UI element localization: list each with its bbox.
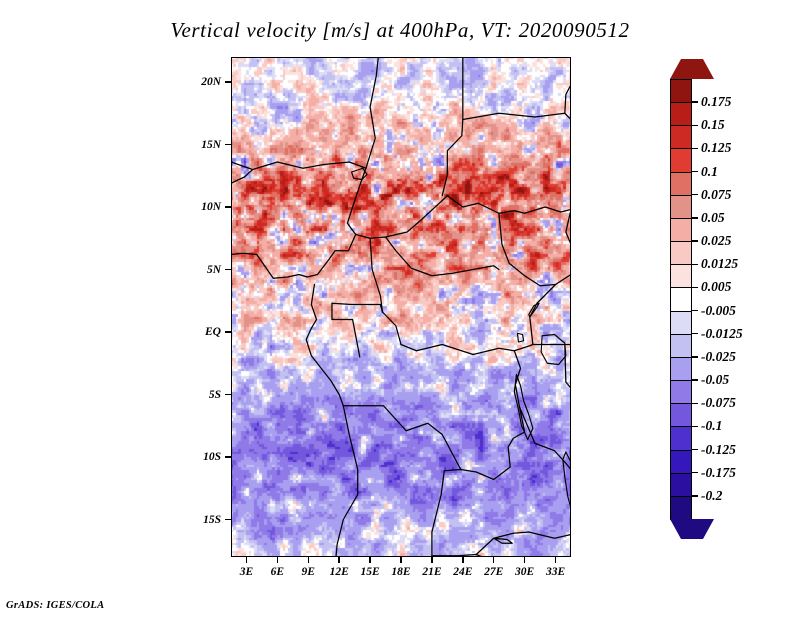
colorbar-label: -0.175	[701, 465, 736, 481]
x-axis-tick	[555, 557, 556, 563]
x-axis-tick	[431, 557, 432, 563]
colorbar-band	[670, 264, 692, 288]
x-axis-label: 6E	[271, 566, 284, 578]
colorbar-band	[670, 79, 692, 103]
y-axis-tick	[225, 81, 231, 82]
x-axis-label: 12E	[330, 566, 349, 578]
y-axis-tick	[225, 519, 231, 520]
colorbar-label: -0.0125	[701, 326, 743, 342]
colorbar-label: -0.125	[701, 442, 736, 458]
colorbar-tick	[692, 240, 698, 241]
colorbar-band	[670, 357, 692, 381]
colorbar-band	[670, 450, 692, 474]
colorbar-band	[670, 241, 692, 265]
colorbar-label: -0.1	[701, 418, 722, 434]
colorbar-band	[670, 195, 692, 219]
y-axis-label: 15S	[187, 514, 221, 526]
colorbar-tick	[692, 148, 698, 149]
colorbar-label: -0.05	[701, 372, 729, 388]
colorbar-tick	[692, 171, 698, 172]
x-axis-label: 15E	[360, 566, 379, 578]
x-axis-label: 30E	[515, 566, 534, 578]
x-axis-label: 21E	[422, 566, 441, 578]
x-axis-tick	[277, 557, 278, 563]
x-axis-tick	[493, 557, 494, 563]
y-axis-tick	[225, 269, 231, 270]
colorbar-band	[670, 287, 692, 311]
x-axis-label: 9E	[302, 566, 315, 578]
x-axis-tick	[462, 557, 463, 563]
y-axis-label: 20N	[187, 76, 221, 88]
colorbar-band	[670, 218, 692, 242]
colorbar-label: 0.175	[701, 94, 731, 110]
country-borders-overlay	[231, 57, 571, 557]
colorbar-label: 0.1	[701, 164, 718, 180]
colorbar-tick	[692, 495, 698, 496]
colorbar-band	[670, 496, 692, 520]
x-axis-label: 18E	[391, 566, 410, 578]
colorbar-band	[670, 426, 692, 450]
y-axis-label: EQ	[187, 326, 221, 338]
page-title: Vertical velocity [m/s] at 400hPa, VT: 2…	[0, 18, 800, 43]
colorbar-label: -0.025	[701, 349, 736, 365]
colorbar[interactable]: 0.1750.150.1250.10.0750.050.0250.01250.0…	[670, 57, 800, 562]
colorbar-tick	[692, 125, 698, 126]
x-axis-label: 33E	[546, 566, 565, 578]
y-axis-label: 5S	[187, 389, 221, 401]
colorbar-tick	[692, 356, 698, 357]
colorbar-band	[670, 380, 692, 404]
y-axis-tick	[225, 456, 231, 457]
colorbar-label: 0.15	[701, 117, 725, 133]
x-axis-tick	[524, 557, 525, 563]
colorbar-label: 0.025	[701, 233, 731, 249]
colorbar-tick	[692, 403, 698, 404]
x-axis-label: 24E	[453, 566, 472, 578]
colorbar-label: 0.05	[701, 210, 725, 226]
colorbar-band	[670, 125, 692, 149]
colorbar-tick	[692, 264, 698, 265]
colorbar-tick	[692, 101, 698, 102]
colorbar-label: 0.005	[701, 279, 731, 295]
x-axis-tick	[369, 557, 370, 563]
colorbar-label: 0.0125	[701, 256, 738, 272]
colorbar-label: 0.075	[701, 187, 731, 203]
colorbar-band	[670, 403, 692, 427]
y-axis-label: 10N	[187, 201, 221, 213]
colorbar-tick	[692, 217, 698, 218]
colorbar-label: -0.075	[701, 395, 736, 411]
colorbar-band	[670, 473, 692, 497]
colorbar-tick	[692, 426, 698, 427]
x-axis-tick	[338, 557, 339, 563]
y-axis-label: 5N	[187, 264, 221, 276]
y-axis-tick	[225, 331, 231, 332]
colorbar-arrow-bottom-icon	[670, 519, 714, 539]
colorbar-band	[670, 102, 692, 126]
y-axis-label: 15N	[187, 139, 221, 151]
colorbar-band	[670, 172, 692, 196]
x-axis-tick	[400, 557, 401, 563]
colorbar-band	[670, 334, 692, 358]
colorbar-tick	[692, 472, 698, 473]
colorbar-tick	[692, 333, 698, 334]
colorbar-tick	[692, 287, 698, 288]
colorbar-arrow-top-icon	[670, 59, 714, 79]
colorbar-tick	[692, 379, 698, 380]
colorbar-label: -0.2	[701, 488, 722, 504]
map-plot-area[interactable]	[231, 57, 571, 557]
colorbar-tick	[692, 449, 698, 450]
x-axis-tick	[246, 557, 247, 563]
colorbar-label: -0.005	[701, 303, 736, 319]
colorbar-label: 0.125	[701, 140, 731, 156]
y-axis-tick	[225, 394, 231, 395]
colorbar-band	[670, 148, 692, 172]
y-axis-tick	[225, 144, 231, 145]
colorbar-tick	[692, 310, 698, 311]
footer-attribution: GrADS: IGES/COLA	[6, 600, 104, 611]
x-axis-tick	[308, 557, 309, 563]
y-axis-label: 10S	[187, 451, 221, 463]
colorbar-tick	[692, 194, 698, 195]
x-axis-label: 27E	[484, 566, 503, 578]
y-axis-tick	[225, 206, 231, 207]
colorbar-band	[670, 311, 692, 335]
x-axis-label: 3E	[240, 566, 253, 578]
